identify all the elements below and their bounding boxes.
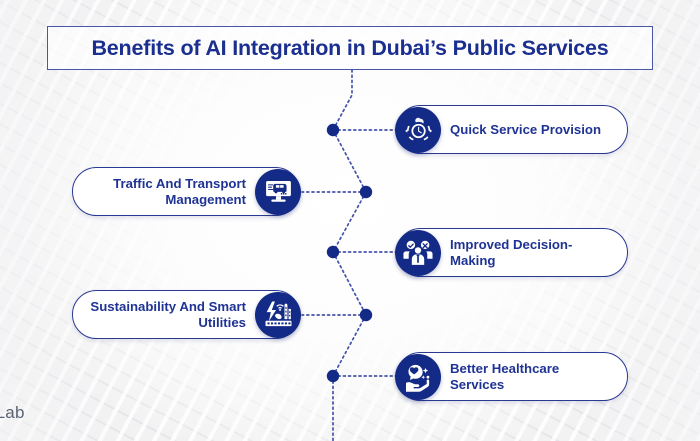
item-label: Improved Decision-Making xyxy=(450,237,613,268)
alarm-clock-speed-icon xyxy=(395,107,441,153)
item-label: Quick Service Provision xyxy=(450,122,601,138)
spine-segment-4 xyxy=(333,315,366,376)
node-dot-1 xyxy=(327,124,339,136)
watermark-text: uLab xyxy=(0,403,25,423)
node-dot-5 xyxy=(327,370,339,382)
node-dot-3 xyxy=(327,246,339,258)
node-dot-4 xyxy=(360,309,372,321)
spine-segment-2 xyxy=(333,192,366,252)
item-label: Better Healthcare Services xyxy=(450,361,613,392)
item-traffic-and-transport-management[interactable]: Traffic And Transport Management xyxy=(72,167,300,216)
smart-energy-grid-icon xyxy=(255,292,301,338)
item-better-healthcare-services[interactable]: Better Healthcare Services xyxy=(396,352,628,401)
spine-segment-3 xyxy=(333,252,366,315)
spine-segment-top xyxy=(333,70,352,130)
node-dot-2 xyxy=(360,186,372,198)
item-quick-service-provision[interactable]: Quick Service Provision xyxy=(396,105,628,154)
decision-people-icon xyxy=(395,230,441,276)
item-label: Traffic And Transport Management xyxy=(87,176,246,207)
hand-heart-plus-icon xyxy=(395,354,441,400)
item-improved-decision-making[interactable]: Improved Decision-Making xyxy=(396,228,628,277)
page-title: Benefits of AI Integration in Dubai’s Pu… xyxy=(91,36,608,61)
item-label: Sustainability And Smart Utilities xyxy=(87,299,246,330)
item-sustainability-and-smart-utilities[interactable]: Sustainability And Smart Utilities xyxy=(72,290,300,339)
bus-monitor-icon xyxy=(255,169,301,215)
spine-segment-1 xyxy=(333,130,366,192)
page-title-box: Benefits of AI Integration in Dubai’s Pu… xyxy=(47,26,653,70)
